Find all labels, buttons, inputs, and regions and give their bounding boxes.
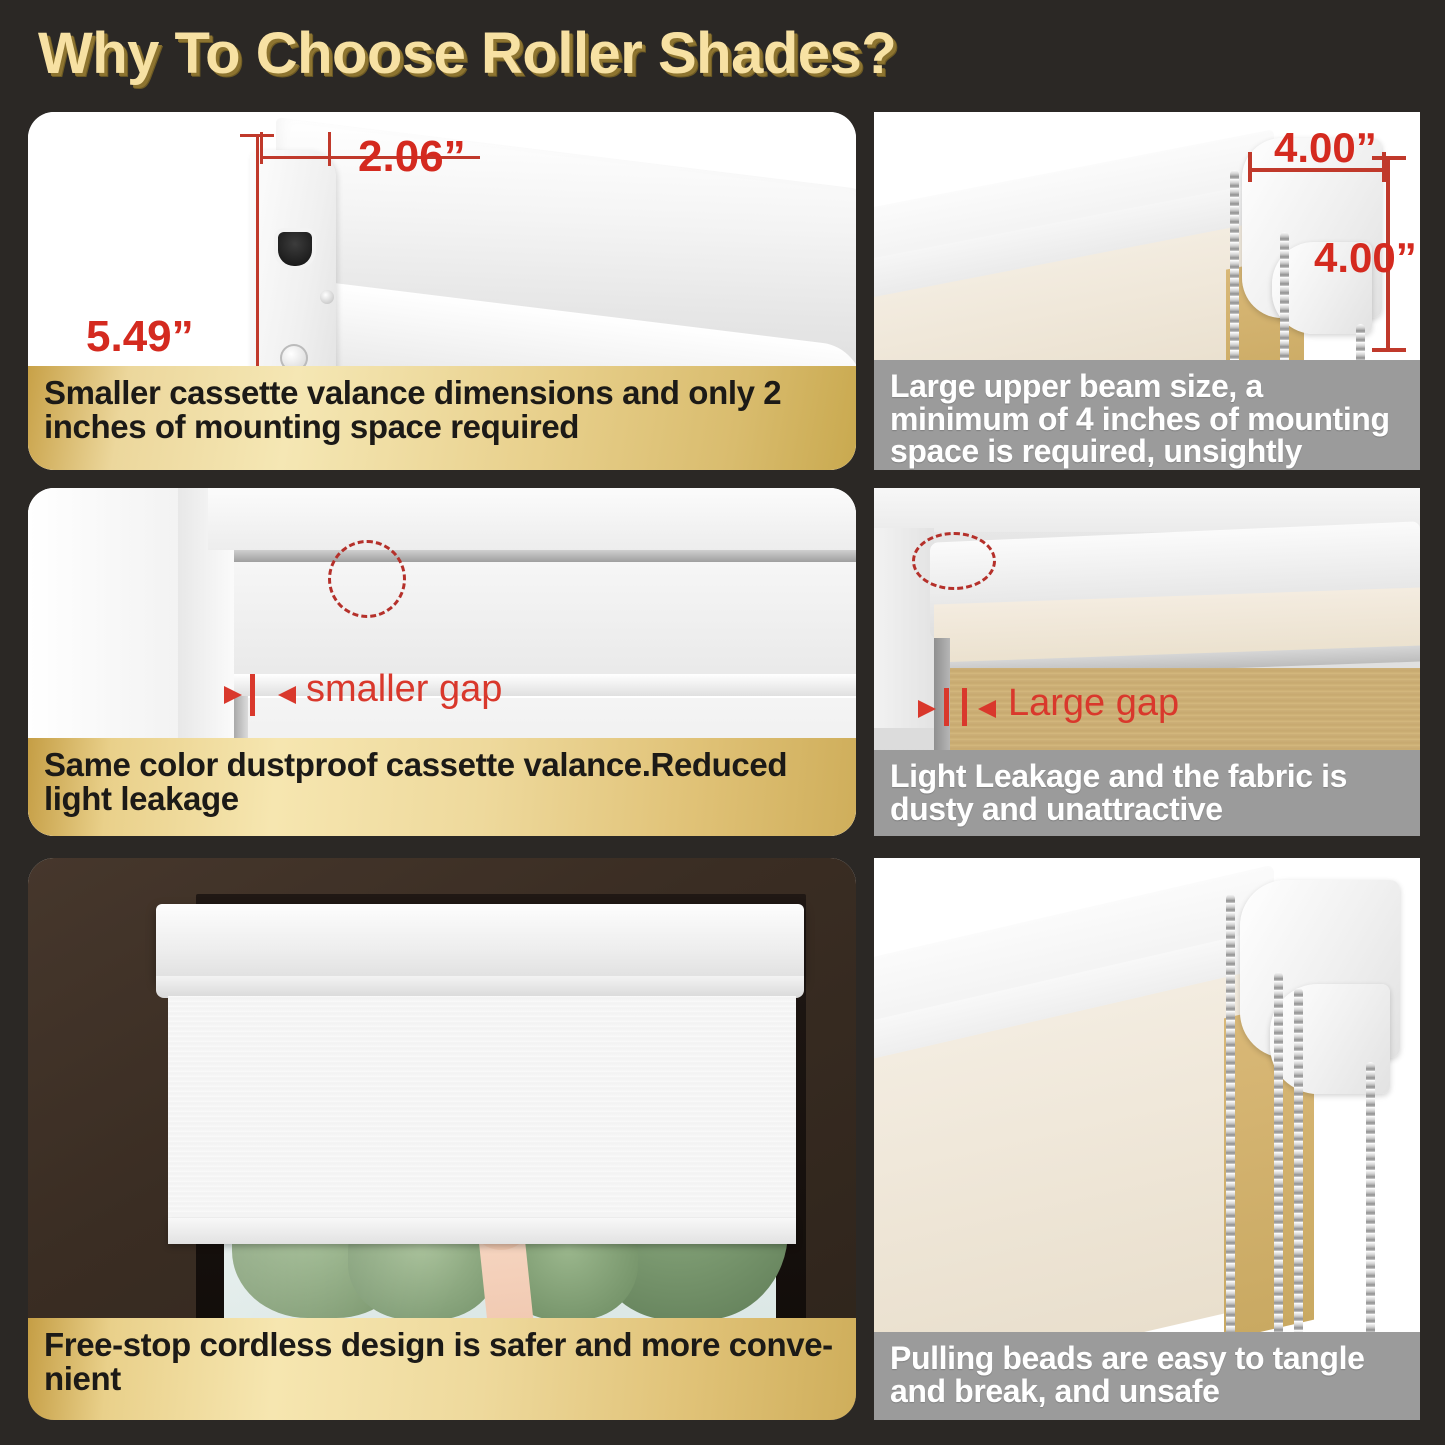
gap-arrow-left <box>224 686 242 704</box>
page-title: Why To Choose Roller Shades? <box>38 18 1398 90</box>
caption-pro-cordless-design: Free-stop cordless design is safer and m… <box>28 1318 856 1420</box>
panel-con-beam-size: 4.00” 4.00” Large upper beam size, a min… <box>874 112 1420 470</box>
annotation-large-gap: Large gap <box>1008 682 1179 725</box>
caption-con-beam-size: Large upper beam size, a minimum of 4 in… <box>874 360 1420 470</box>
dimension-width-label: 2.06” <box>358 132 466 182</box>
caption-pro-dustproof-valance: Same color dustproof cassette valance.Re… <box>28 738 856 836</box>
caption-pro-cassette-size: Smaller cassette valance dimensions and … <box>28 366 856 470</box>
caption-con-light-leakage: Light Leakage and the fabric is dusty an… <box>874 750 1420 836</box>
bead-chain-mid-b <box>1294 988 1303 1356</box>
infographic-root: Why To Choose Roller Shades? 2.06” 5.49”… <box>0 0 1445 1445</box>
panel-con-light-leakage: Large gap Light Leakage and the fabric i… <box>874 488 1420 836</box>
panel-pro-cordless-design: Free-stop cordless design is safer and m… <box>28 858 856 1420</box>
dimension-beam-width-label: 4.00” <box>1274 124 1377 172</box>
bead-chain-right <box>1366 1062 1375 1356</box>
dim-height-tick-top <box>240 134 274 137</box>
gap-highlight-circle <box>328 540 406 618</box>
panel-con-pulling-beads: Pulling beads are easy to tangle and bre… <box>874 858 1420 1420</box>
bead-chain-left <box>1226 894 1235 1356</box>
gap-measure-bar <box>250 674 255 716</box>
bead-chain-mid-a <box>1274 972 1283 1356</box>
shade-fabric <box>168 996 796 1224</box>
dim-side-tick-bottom <box>1372 348 1406 352</box>
annotation-smaller-gap: smaller gap <box>306 668 502 711</box>
dimension-height-label: 5.49” <box>86 312 194 362</box>
dim-top-tick-left <box>1248 152 1252 182</box>
gap-highlight-circle <box>912 532 996 590</box>
gap-arrow-right <box>278 686 296 704</box>
panel-pro-cassette-size: 2.06” 5.49” Smaller cassette valance dim… <box>28 112 856 470</box>
shade-headrail <box>156 904 804 982</box>
gap-measure-bar-2 <box>962 688 967 726</box>
gap-arrow-right <box>978 700 996 718</box>
caption-con-pulling-beads: Pulling beads are easy to tangle and bre… <box>874 1332 1420 1420</box>
dim-side-tick-top <box>1372 156 1406 160</box>
shade-bottom-rail <box>168 1218 796 1244</box>
gap-measure-bar-1 <box>944 688 949 726</box>
panel-pro-dustproof-valance: smaller gap Same color dustproof cassett… <box>28 488 856 836</box>
dim-width-tick-right <box>328 132 331 166</box>
gap-arrow-left <box>918 700 936 718</box>
dimension-beam-height-label: 4.00” <box>1314 234 1417 282</box>
